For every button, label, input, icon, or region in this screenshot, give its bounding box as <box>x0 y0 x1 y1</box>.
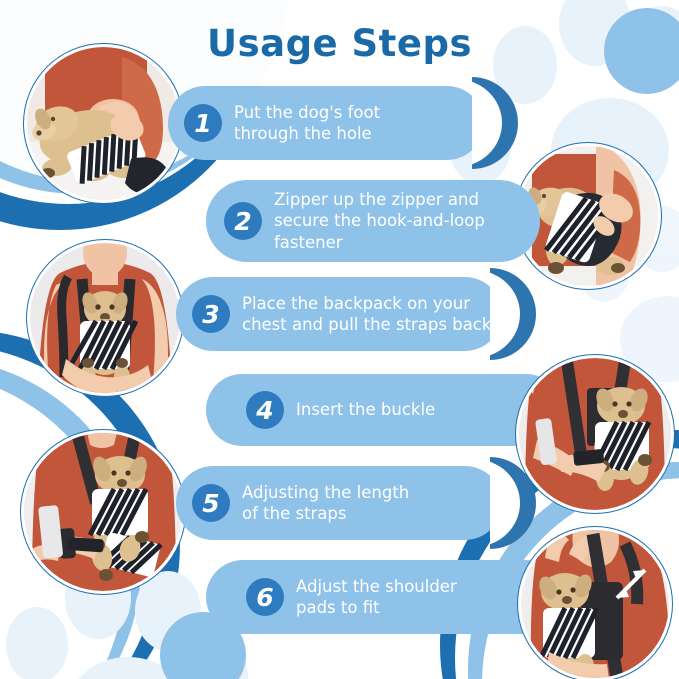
step-photo-6 <box>521 530 669 678</box>
step-number-4: 4 <box>246 391 284 429</box>
step-number-1: 1 <box>184 104 222 142</box>
step-accent-crescent-3 <box>490 268 536 360</box>
step-bubble-1[interactable]: 1 Put the dog's foot through the hole <box>168 86 484 160</box>
step-bubble-3[interactable]: 3 Place the backpack on your chest and p… <box>176 277 502 351</box>
infographic-page: Usage Steps <box>0 0 679 679</box>
step-photo-1 <box>27 47 180 200</box>
step-number-3: 3 <box>192 295 230 333</box>
step-photo-3 <box>30 243 180 393</box>
step-photo-5 <box>24 433 182 591</box>
step-accent-crescent-5 <box>490 457 536 549</box>
step-text-2: Zipper up the zipper and secure the hook… <box>274 189 485 252</box>
step-bubble-6[interactable]: 6 Adjust the shoulder pads to fit <box>206 560 562 634</box>
step-number-6: 6 <box>246 578 284 616</box>
step-text-3: Place the backpack on your chest and pul… <box>242 293 491 335</box>
step-bubble-2[interactable]: 2 Zipper up the zipper and secure the ho… <box>206 180 540 262</box>
step-number-2: 2 <box>224 202 262 240</box>
step-text-6: Adjust the shoulder pads to fit <box>296 576 457 618</box>
step-text-5: Adjusting the length of the straps <box>242 482 409 524</box>
step-number-5: 5 <box>192 484 230 522</box>
step-bubble-5[interactable]: 5 Adjusting the length of the straps <box>176 466 502 540</box>
step-bubble-4[interactable]: 4 Insert the buckle <box>206 374 562 446</box>
step-text-1: Put the dog's foot through the hole <box>234 102 380 144</box>
step-photo-4 <box>519 358 671 510</box>
step-accent-crescent-1 <box>472 77 518 169</box>
step-text-4: Insert the buckle <box>296 399 435 420</box>
